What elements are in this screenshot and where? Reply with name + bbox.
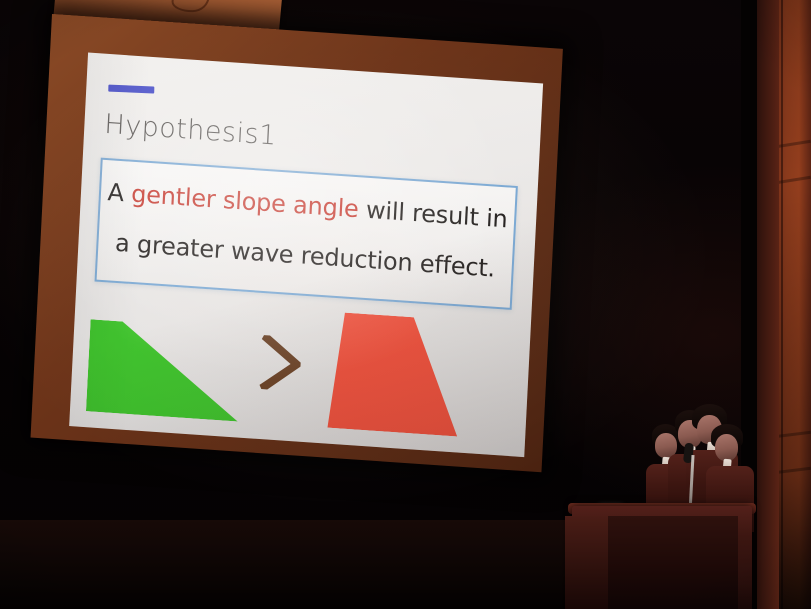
hypothesis-prefix: A	[107, 178, 132, 208]
projection-screen: Hypothesis1 A gentler slope angle will r…	[69, 53, 543, 458]
red-trapezoid-icon	[327, 312, 463, 437]
podium-front-face	[608, 516, 738, 609]
banner-emblem-icon	[171, 0, 209, 12]
presentation-slide: Hypothesis1 A gentler slope angle will r…	[69, 53, 543, 458]
hypothesis-highlight: gentler slope angle	[131, 180, 360, 223]
slide-shape-comparison	[69, 290, 531, 451]
stage-photo: Hypothesis1 A gentler slope angle will r…	[0, 0, 811, 609]
accent-dash-icon	[108, 85, 154, 94]
hypothesis-line-1: A gentler slope angle will result in	[100, 178, 515, 234]
hypothesis-box: A gentler slope angle will result in a g…	[95, 158, 518, 310]
slide-title: Hypothesis1	[104, 109, 278, 152]
presenter-head	[715, 434, 738, 461]
hypothesis-suffix: will result in	[358, 195, 508, 233]
projection-screen-assembly: Hypothesis1 A gentler slope angle will r…	[30, 14, 571, 479]
hypothesis-line-2: a greater wave reduction effect.	[98, 228, 513, 284]
greater-than-chevron-icon	[257, 333, 306, 394]
wooden-wall-shadow-edge	[757, 0, 779, 609]
green-right-triangle-icon	[86, 319, 242, 421]
wall-column-line	[781, 0, 783, 609]
